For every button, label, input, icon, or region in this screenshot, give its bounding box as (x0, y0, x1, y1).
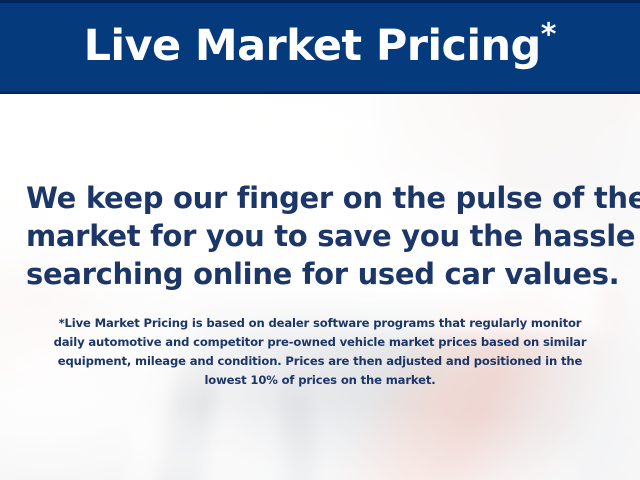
disclaimer-line-4: lowest 10% of prices on the market. (22, 371, 618, 390)
page-title: Live Market Pricing* (84, 25, 557, 70)
disclaimer-text: *Live Market Pricing is based on dealer … (22, 314, 618, 390)
header-banner: Live Market Pricing* (0, 0, 640, 94)
live-market-pricing-promo-card: Live Market Pricing* We keep our finger … (0, 0, 640, 480)
content-area: We keep our finger on the pulse of the m… (0, 94, 640, 480)
page-title-text: Live Market Pricing (84, 21, 541, 71)
page-title-footnote-marker: * (541, 17, 557, 52)
disclaimer-line-1: *Live Market Pricing is based on dealer … (22, 314, 618, 333)
headline-line-3: searching online for used car values. (26, 255, 614, 293)
headline-line-1: We keep our finger on the pulse of the (26, 179, 614, 217)
disclaimer-line-3: equipment, mileage and condition. Prices… (22, 352, 618, 371)
disclaimer-line-2: daily automotive and competitor pre-owne… (22, 333, 618, 352)
headline-line-2: market for you to save you the hassle of (26, 217, 614, 255)
headline-text: We keep our finger on the pulse of the m… (26, 179, 614, 293)
